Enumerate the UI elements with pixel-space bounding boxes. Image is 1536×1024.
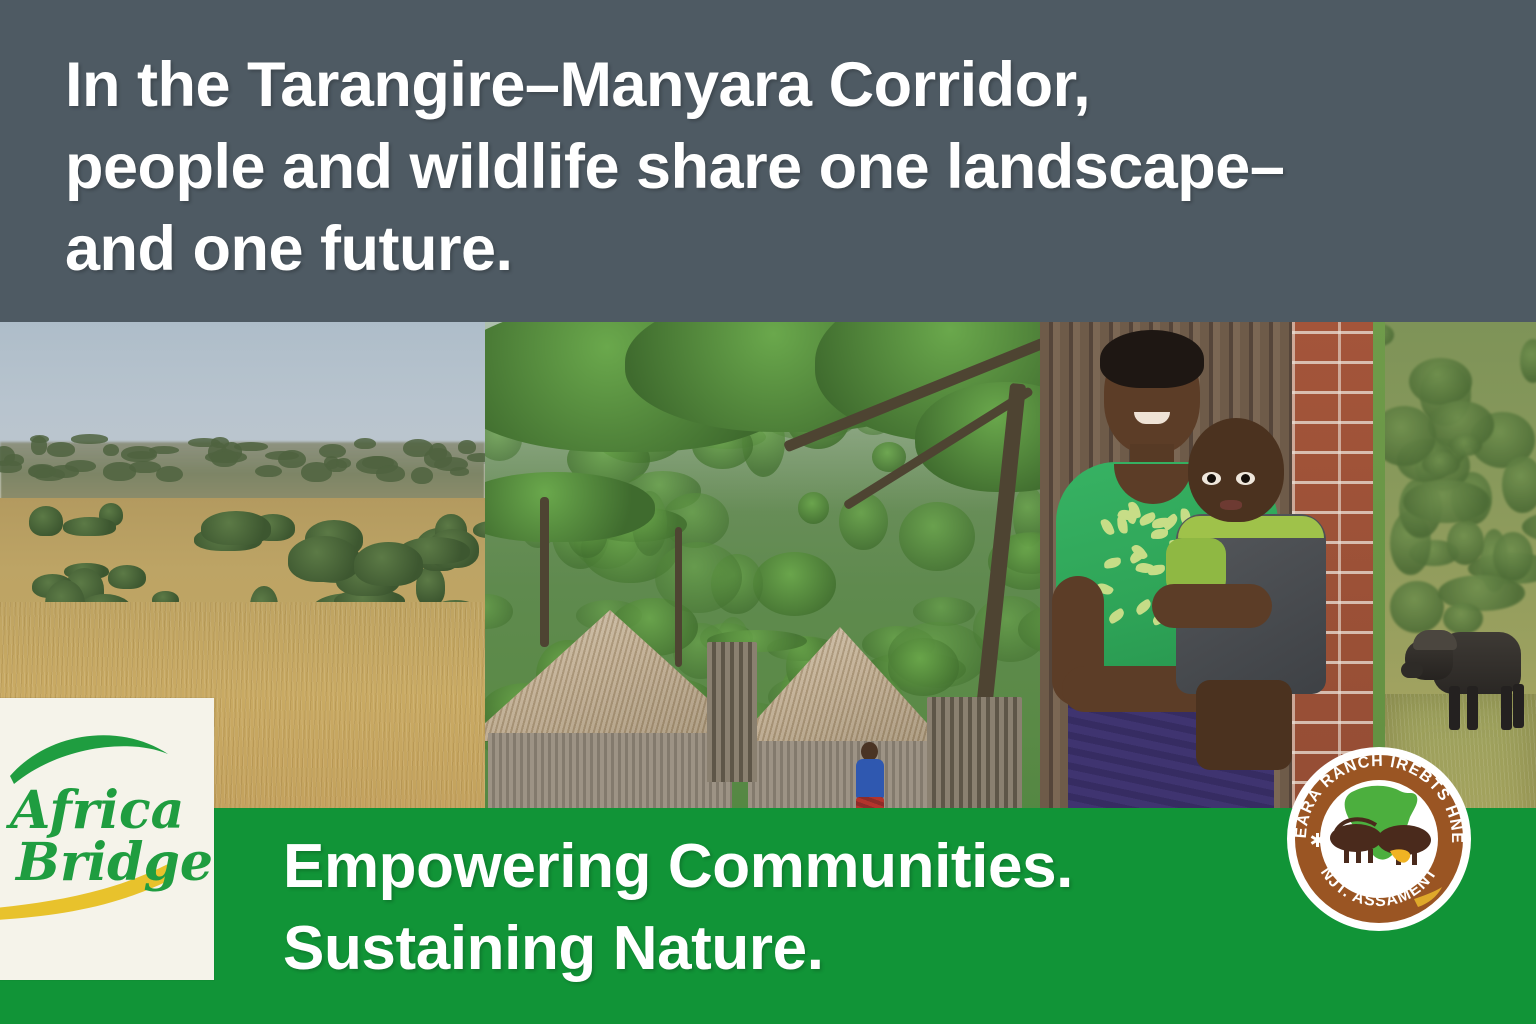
buffalo-horns [1413,630,1457,650]
africa-bridge-logo[interactable]: Africa Bridge [0,698,214,980]
child-eye [1202,472,1221,485]
hut-roof [730,627,950,749]
buffalo-muzzle [1401,662,1423,678]
buffalo-bushes [1385,322,1536,652]
buffalo-leg [1513,684,1524,728]
badge-svg: DINEARA RANCH IREBTS HNEHR NJT. ASSAMENT [1284,733,1474,945]
logo-arc [10,735,168,784]
page-title: In the Tarangire–Manyara Corridor, peopl… [65,44,1465,290]
logo-word-bridge: Bridge [14,832,213,893]
africa-bridge-logo-svg: Africa Bridge [0,698,214,980]
stick-fence [707,642,757,782]
villager-shirt [856,759,884,799]
tagline-line-2: Sustaining Nature. [283,908,1283,990]
thatched-hut [730,627,950,823]
headline-line-1: In the Tarangire–Manyara Corridor, [65,44,1465,126]
buffalo-leg [1467,686,1478,730]
cattle-leg [1368,849,1373,863]
child-arm [1152,584,1272,628]
headline-line-2: people and wildlife share one landscape– [65,126,1465,208]
cattle-leg [1356,849,1361,863]
child-eye [1236,472,1255,485]
savanna-ridge-bushes [0,434,485,494]
headline-line-3: and one future. [65,208,1465,290]
status-badge[interactable]: DINEARA RANCH IREBTS HNEHR NJT. ASSAMENT [1284,733,1474,945]
cape-buffalo [1405,622,1523,744]
child-mouth [1220,500,1242,510]
poster-root: In the Tarangire–Manyara Corridor, peopl… [0,0,1536,1024]
child-leg [1196,680,1292,770]
cattle-leg [1412,851,1417,865]
buffalo-leg [1501,686,1512,730]
tagline: Empowering Communities. Sustaining Natur… [283,826,1283,990]
cattle-leg [1344,849,1349,863]
woman-hair [1100,330,1204,388]
tagline-line-1: Empowering Communities. [283,826,1283,908]
buffalo-leg [1449,686,1460,730]
header-band: In the Tarangire–Manyara Corridor, peopl… [0,0,1536,322]
